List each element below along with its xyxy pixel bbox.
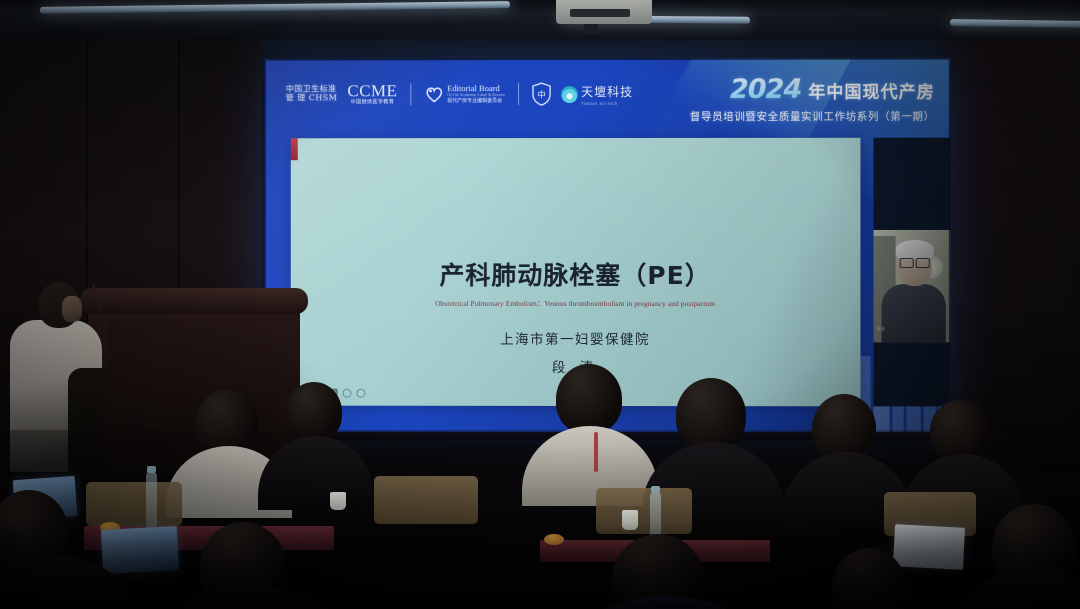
wall-panel-seam — [86, 40, 88, 470]
event-title-block: 2024 年中国现代产房 督导员培训暨安全质量实训工作坊系列（第一期） — [690, 76, 935, 124]
snack-plate — [544, 534, 564, 545]
stop-icon[interactable] — [329, 389, 338, 398]
conference-room-photo: 中国卫生标准 管 理 CHSM CCME 中国继续医学教育 — [0, 0, 1080, 609]
slide-organization: 上海市第一妇婴保健院 — [291, 328, 861, 348]
audience-shoulders — [560, 596, 772, 609]
chsm-logo: 中国卫生标准 管 理 CHSM — [286, 86, 338, 103]
audience-head — [612, 534, 704, 609]
slide-subtitle-english: Obstetrical Pulmonary Embolism：Venous th… — [291, 298, 861, 309]
video-tile-edge — [874, 342, 951, 343]
audience-head — [992, 504, 1076, 592]
ceiling-light-strip — [40, 1, 510, 14]
audience-head — [832, 548, 906, 609]
sponsor-logo-row: 中国卫生标准 管 理 CHSM CCME 中国继续医学教育 — [286, 82, 633, 106]
table — [84, 526, 334, 550]
tiantan-name-en: Tiantan Sci-tech — [581, 100, 633, 105]
audience-shoulders — [952, 568, 1080, 609]
audience-shoulders — [0, 554, 136, 609]
foreground-shadow — [0, 523, 1080, 609]
paper-cup — [330, 492, 346, 510]
circle-icon[interactable] — [343, 389, 352, 398]
shield-emblem-logo: 中 — [532, 82, 551, 106]
circle-icon[interactable] — [356, 389, 365, 398]
chsm-logo-line2: 管 理 CHSM — [286, 94, 338, 103]
speaker-torso — [882, 284, 946, 342]
laptop[interactable] — [101, 526, 179, 574]
speaker-video-feed: 段涛 — [874, 230, 951, 342]
projection-screen: 中国卫生标准 管 理 CHSM CCME 中国继续医学教育 — [264, 58, 951, 435]
audience-shoulders — [782, 452, 910, 528]
audience-shoulders — [258, 436, 374, 510]
event-subtitle: 督导员培训暨安全质量实训工作坊系列（第一期） — [690, 109, 935, 124]
slide-presenter-name: 段 涛 — [291, 356, 861, 377]
chair — [374, 476, 478, 524]
panel-accent-mark — [291, 138, 298, 160]
tiantan-mark-icon — [561, 86, 578, 103]
chair — [884, 492, 976, 536]
laptop[interactable] — [893, 524, 965, 570]
slide-control-icons[interactable] — [329, 389, 366, 398]
editorial-board-line3: 现代产房专业编辑委员会 — [447, 99, 505, 104]
ceiling-light-strip — [950, 19, 1080, 28]
event-title: 年中国现代产房 — [808, 85, 934, 102]
presentation-slide: 中国卫生标准 管 理 CHSM CCME 中国继续医学教育 — [264, 58, 951, 435]
laptop[interactable] — [13, 476, 78, 520]
ccme-logo-main: CCME — [347, 83, 397, 100]
projector-mount — [584, 24, 598, 34]
svg-text:中: 中 — [537, 89, 546, 100]
slide-header: 中国卫生标准 管 理 CHSM CCME 中国继续医学教育 — [264, 58, 951, 129]
slide-title: 产科肺动脉栓塞（PE） — [291, 256, 861, 292]
speaker-video-tile[interactable]: 段涛 — [874, 138, 951, 407]
projector-lens — [570, 9, 630, 17]
editorial-board-line2: Of Chi Academic Label & Review — [447, 93, 505, 97]
chair — [596, 488, 692, 534]
paper-cup — [622, 510, 638, 530]
wall-right — [946, 40, 1080, 470]
screen-bottom-edge — [263, 432, 950, 440]
tiantan-name-cn: 天壇科技 — [581, 84, 633, 98]
editorial-board-logo: Editorial Board Of Chi Academic Label & … — [424, 84, 505, 104]
video-tile-edge — [874, 230, 951, 231]
ceiling-projector — [556, 0, 652, 24]
heart-icon — [424, 85, 444, 103]
water-bottle — [650, 492, 661, 550]
glasses-icon — [900, 258, 930, 266]
ccme-logo: CCME 中国继续医学教育 — [347, 83, 397, 106]
audience-head — [0, 490, 68, 572]
chair — [86, 482, 182, 526]
speaker-video-label: 段涛 — [877, 326, 886, 332]
wall-panel-seam — [178, 40, 180, 470]
speaker-hair — [896, 240, 934, 260]
audience-shoulders — [154, 586, 350, 609]
slide-content-panel: 产科肺动脉栓塞（PE） Obstetrical Pulmonary Emboli… — [291, 138, 861, 407]
wall-left — [0, 40, 262, 470]
table — [540, 540, 770, 562]
tiantan-tech-logo: 天壇科技 Tiantan Sci-tech — [561, 82, 633, 105]
audience-shoulders — [642, 442, 784, 526]
logo-divider — [410, 83, 411, 105]
snack-plate — [100, 522, 120, 533]
ccme-logo-sub: 中国继续医学教育 — [347, 101, 397, 106]
water-bottle — [146, 472, 157, 528]
audience-head — [200, 522, 286, 609]
shield-icon: 中 — [532, 82, 551, 106]
logo-divider — [518, 83, 519, 105]
event-year: 2024 — [730, 76, 801, 103]
